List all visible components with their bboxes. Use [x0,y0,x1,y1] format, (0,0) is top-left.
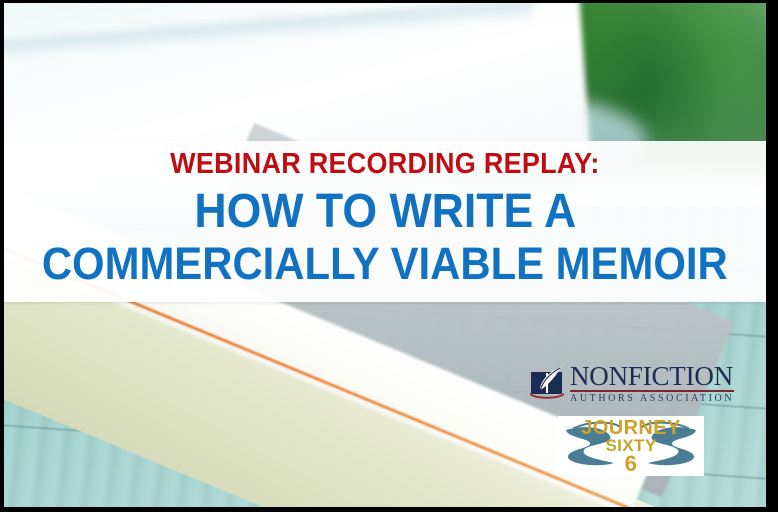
journey-sixty-six-logo[interactable]: JOURNEY SIXTY 6 [558,416,704,476]
winding-road-icon [558,416,704,476]
book-with-quill-icon [528,364,568,402]
frame-border-top [0,0,778,3]
title-banner: WEBINAR RECORDING REPLAY: HOW TO WRITE A… [0,141,770,302]
naa-wordmark-text: NONFICTION [570,363,734,389]
frame-border-left [0,0,4,512]
frame-border-bottom [0,507,778,512]
frame-border-right [766,0,778,512]
nonfiction-authors-association-logo[interactable]: NONFICTION AUTHORS ASSOCIATION [528,363,733,407]
banner-title-line-2: COMMERCIALLY VIABLE MEMOIR [42,240,728,287]
webinar-promo-graphic: WEBINAR RECORDING REPLAY: HOW TO WRITE A… [0,0,778,512]
banner-kicker: WEBINAR RECORDING REPLAY: [170,150,600,179]
naa-wordmark: NONFICTION AUTHORS ASSOCIATION [568,363,734,405]
naa-tagline-text: AUTHORS ASSOCIATION [570,392,734,405]
banner-title-line-1: HOW TO WRITE A [194,187,576,237]
